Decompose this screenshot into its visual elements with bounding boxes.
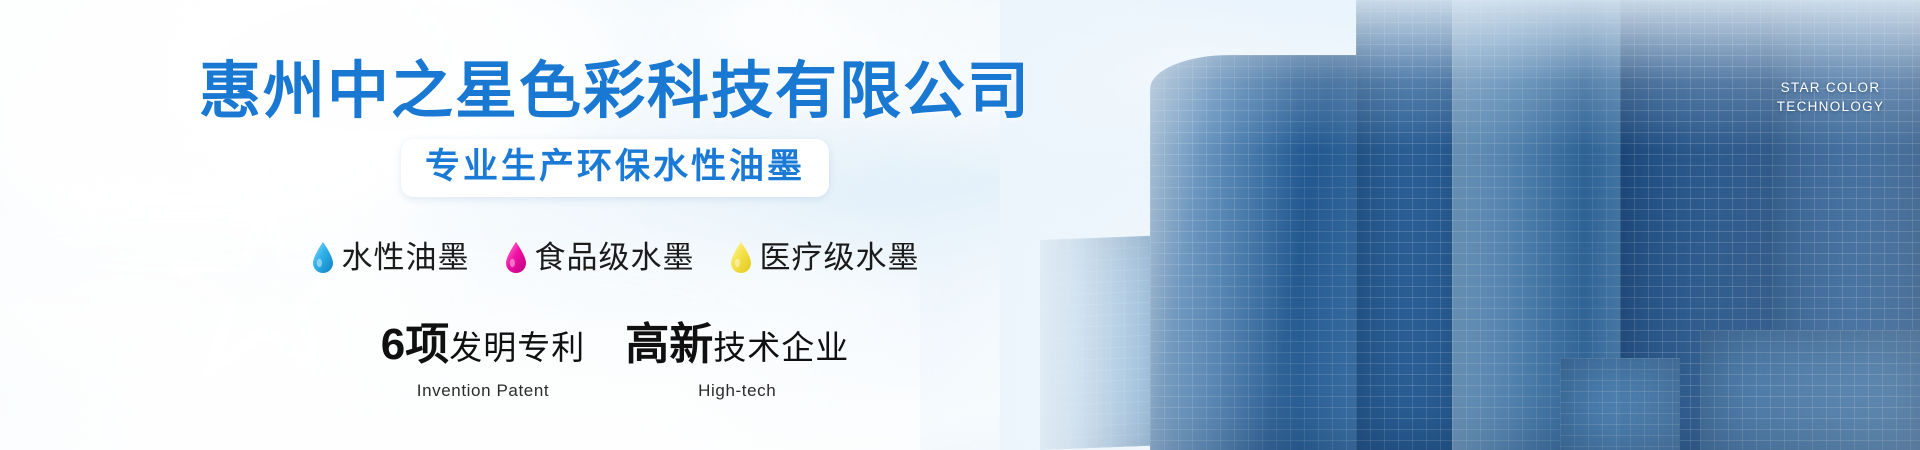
badge-invention-patent: 6项发明专利 Invention Patent [381, 322, 585, 402]
food-grade-ink-droplet-icon [504, 241, 528, 275]
building-brand-label: STAR COLOR TECHNOLOGY [1763, 78, 1898, 116]
badge-strong-text: 6项 [381, 320, 449, 369]
badge-high-tech: 高新技术企业 High-tech [625, 322, 849, 402]
list-item: 水性油墨 [311, 240, 470, 276]
medical-grade-ink-droplet-icon [729, 241, 753, 275]
list-item: 食品级水墨 [504, 240, 695, 276]
badge-chinese-text: 6项发明专利 [381, 322, 585, 378]
building [1560, 358, 1680, 450]
banner-content: 惠州中之星色彩科技有限公司 专业生产环保水性油墨 水性油 [0, 0, 1230, 450]
building [1700, 330, 1920, 450]
badge-rest-text: 发明专利 [449, 329, 585, 366]
badge-english-text: Invention Patent [381, 380, 585, 402]
company-hero-banner: Star Color STAR COLOR TECHNOLOGY 惠州中之星色彩… [0, 0, 1920, 450]
badge-chinese-text: 高新技术企业 [625, 322, 849, 378]
building-brand-line-1: STAR COLOR [1763, 78, 1898, 97]
company-name-headline: 惠州中之星色彩科技有限公司 [0, 56, 1230, 128]
badge-strong-text: 高新 [625, 320, 713, 369]
list-item-label: 食品级水墨 [535, 240, 695, 276]
product-feature-list: 水性油墨 食品级水墨 [0, 240, 1230, 276]
subtitle-pill: 专业生产环保水性油墨 [401, 139, 829, 197]
badge-rest-text: 技术企业 [713, 329, 849, 366]
list-item-label: 水性油墨 [342, 240, 470, 276]
building-brand-line-2: TECHNOLOGY [1763, 97, 1898, 116]
credential-badge-row: 6项发明专利 Invention Patent 高新技术企业 High-tech [0, 322, 1230, 402]
badge-english-text: High-tech [625, 380, 849, 402]
list-item-label: 医疗级水墨 [760, 240, 920, 276]
list-item: 医疗级水墨 [729, 240, 920, 276]
subtitle-row: 专业生产环保水性油墨 [0, 139, 1230, 197]
water-based-ink-droplet-icon [311, 241, 335, 275]
